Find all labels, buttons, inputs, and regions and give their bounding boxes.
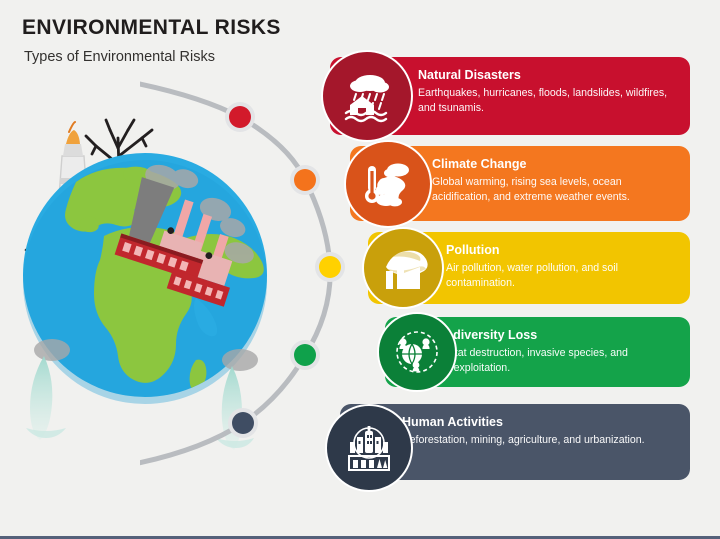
card-title-biodiversity-loss: Biodiversity Loss — [433, 328, 676, 343]
card-text-biodiversity-loss: Biodiversity Loss Habitat destruction, i… — [433, 328, 676, 376]
card-desc-biodiversity-loss: Habitat destruction, invasive species, a… — [433, 346, 676, 376]
card-desc-natural-disasters: Earthquakes, hurricanes, floods, landsli… — [418, 86, 676, 116]
badge-climate-change[interactable] — [344, 140, 432, 228]
header: ENVIRONMENTAL RISKS Types of Environment… — [22, 16, 281, 65]
slide-canvas: ENVIRONMENTAL RISKS Types of Environment… — [0, 0, 720, 539]
card-desc-pollution: Air pollution, water pollution, and soil… — [446, 261, 676, 291]
flood-house-icon — [340, 69, 394, 123]
page-title: ENVIRONMENTAL RISKS — [22, 16, 281, 40]
smokestack-factory-icon — [378, 243, 428, 293]
card-title-human-activities: Human Activities — [402, 415, 676, 430]
card-text-climate-change: Climate Change Global warming, rising se… — [432, 157, 676, 205]
base-figures — [353, 459, 387, 468]
earth-illustration — [0, 60, 330, 480]
card-title-climate-change: Climate Change — [432, 157, 676, 172]
card-text-pollution: Pollution Air pollution, water pollution… — [446, 243, 676, 291]
badge-pollution[interactable] — [362, 227, 444, 309]
city-skyline-icon — [342, 421, 396, 475]
polluted-earth-graphic — [0, 60, 330, 480]
thermometer-globe-icon — [362, 158, 414, 210]
badge-natural-disasters[interactable] — [321, 50, 413, 142]
card-title-pollution: Pollution — [446, 243, 676, 258]
steam-vent-left-icon — [26, 339, 70, 440]
card-desc-human-activities: Deforestation, mining, agriculture, and … — [402, 433, 676, 448]
globe-species-icon — [392, 327, 442, 377]
card-title-natural-disasters: Natural Disasters — [418, 68, 676, 83]
card-text-human-activities: Human Activities Deforestation, mining, … — [402, 415, 676, 448]
badge-biodiversity-loss[interactable] — [377, 312, 457, 392]
card-desc-climate-change: Global warming, rising sea levels, ocean… — [432, 175, 676, 205]
thermometer-shape — [365, 166, 379, 203]
card-text-natural-disasters: Natural Disasters Earthquakes, hurricane… — [418, 68, 676, 116]
badge-human-activities[interactable] — [325, 404, 413, 492]
